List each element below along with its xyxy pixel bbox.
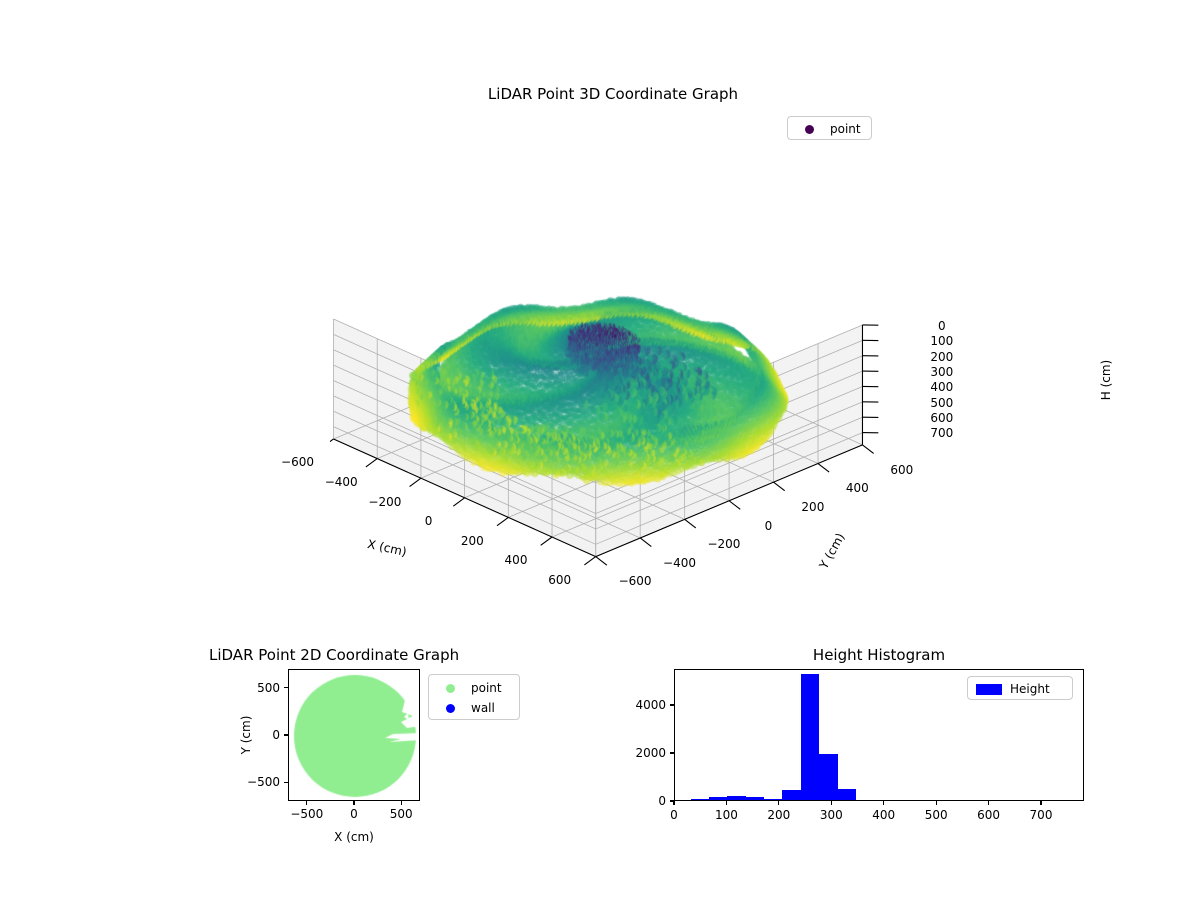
histogram-bar — [801, 674, 819, 800]
x-tick-mark — [936, 801, 937, 805]
x-tick-mark — [306, 801, 307, 805]
x-tick-label: −400 — [325, 475, 358, 489]
y-tick-mark — [670, 800, 674, 801]
x-tick-mark — [1040, 801, 1041, 805]
legend-label: wall — [467, 701, 495, 715]
y-tick-label: 4000 — [635, 698, 666, 712]
y-tick-mark — [670, 752, 674, 753]
histogram-bar — [782, 790, 800, 800]
x-tick-label: 0 — [425, 514, 433, 528]
legend-item-wall[interactable]: wall — [433, 698, 515, 718]
panel-hist-title: Height Histogram — [813, 646, 945, 664]
x-tick-label: 600 — [977, 808, 1000, 822]
legend-label: point — [467, 681, 502, 695]
page-title: LiDAR Point 3D Coordinate Graph — [488, 85, 738, 103]
histogram-bar — [709, 797, 727, 800]
height-patch-icon — [972, 684, 1006, 695]
x-tick-label: −600 — [281, 455, 314, 469]
x-tick-mark — [673, 801, 674, 805]
y-tick-mark — [284, 734, 288, 735]
legend-3d[interactable]: point — [787, 116, 872, 140]
x-tick-label: 100 — [715, 808, 738, 822]
y-tick-label: 400 — [846, 481, 869, 495]
point-marker-icon — [792, 125, 826, 134]
z-tick-label: 500 — [930, 396, 953, 410]
y-tick-mark — [284, 687, 288, 688]
y-tick-mark — [284, 782, 288, 783]
legend-2d[interactable]: point wall — [428, 674, 520, 720]
x-tick-label: 700 — [1030, 808, 1053, 822]
y-tick-mark — [670, 704, 674, 705]
point-marker-icon — [433, 684, 467, 693]
histogram-bar — [691, 799, 709, 800]
x-tick-mark — [831, 801, 832, 805]
y-tick-label: 0 — [272, 728, 280, 742]
x-tick-mark — [401, 801, 402, 805]
legend-hist[interactable]: Height — [967, 676, 1073, 700]
z-tick-label: 300 — [930, 365, 953, 379]
y-tick-label: 0 — [765, 519, 773, 533]
x-tick-label: 400 — [872, 808, 895, 822]
legend-item-height[interactable]: Height — [972, 679, 1068, 699]
histogram-bar — [746, 797, 764, 800]
x-tick-mark — [353, 801, 354, 805]
z-tick-label: 200 — [930, 350, 953, 364]
legend-item-point[interactable]: point — [433, 678, 515, 698]
legend-label: point — [826, 122, 861, 136]
y-tick-label: 2000 — [635, 746, 666, 760]
x-tick-label: 200 — [767, 808, 790, 822]
histogram-bar — [727, 796, 745, 800]
z-tick-label: 600 — [930, 411, 953, 425]
z-tick-label: 400 — [930, 380, 953, 394]
y-tick-label: 500 — [257, 681, 280, 695]
x-tick-label: 500 — [390, 807, 413, 821]
x-tick-mark — [726, 801, 727, 805]
y-tick-label: −200 — [707, 537, 740, 551]
x-tick-label: 0 — [350, 807, 358, 821]
x-tick-label: −500 — [290, 807, 323, 821]
z-tick-label: 100 — [930, 334, 953, 348]
z-axis-label: H (cm) — [1099, 360, 1113, 401]
figure-canvas: LiDAR Point 3D Coordinate Graph point −6… — [0, 0, 1200, 900]
legend-label: Height — [1006, 682, 1050, 696]
y-tick-label: −600 — [619, 574, 652, 588]
x-axis-label: X (cm) — [334, 830, 374, 844]
y-tick-label: 200 — [801, 500, 824, 514]
histogram-bar — [819, 754, 837, 800]
y-tick-label: −500 — [247, 775, 280, 789]
histogram-bar — [764, 799, 782, 800]
z-tick-label: 0 — [938, 319, 946, 333]
x-tick-label: 400 — [505, 553, 528, 567]
x-tick-label: 600 — [548, 573, 571, 587]
x-tick-mark — [988, 801, 989, 805]
x-tick-label: −200 — [368, 495, 401, 509]
y-axis-label: Y (cm) — [239, 716, 253, 755]
point-cloud-2d — [289, 670, 420, 801]
x-tick-label: 200 — [461, 534, 484, 548]
x-tick-label: 300 — [820, 808, 843, 822]
wall-marker-icon — [433, 704, 467, 713]
x-tick-mark — [778, 801, 779, 805]
z-tick-label: 700 — [930, 426, 953, 440]
legend-item-point[interactable]: point — [792, 119, 867, 139]
lidar-2d-plot[interactable] — [288, 669, 420, 801]
panel-2d-title: LiDAR Point 2D Coordinate Graph — [209, 646, 459, 664]
y-tick-label: 600 — [890, 463, 913, 477]
histogram-bar — [838, 789, 856, 800]
x-tick-mark — [883, 801, 884, 805]
x-tick-label: 0 — [670, 808, 678, 822]
y-tick-label: 0 — [658, 794, 666, 808]
x-tick-label: 500 — [925, 808, 948, 822]
y-tick-label: −400 — [663, 556, 696, 570]
